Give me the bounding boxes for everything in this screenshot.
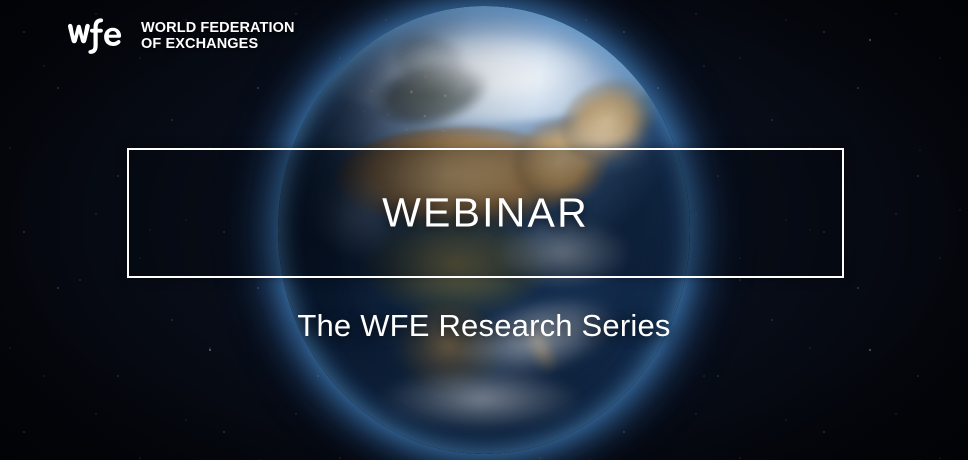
wfe-logo-line-1: WORLD FEDERATION	[141, 20, 295, 37]
wfe-monogram-icon	[66, 16, 132, 56]
webinar-banner: WORLD FEDERATION OF EXCHANGES WEBINAR Th…	[0, 0, 968, 460]
webinar-title-frame: WEBINAR	[127, 148, 844, 278]
wfe-logo[interactable]: WORLD FEDERATION OF EXCHANGES	[66, 16, 295, 56]
page-title: WEBINAR	[129, 193, 842, 234]
wfe-logo-text: WORLD FEDERATION OF EXCHANGES	[141, 20, 295, 53]
page-subtitle: The WFE Research Series	[0, 310, 968, 341]
wfe-logo-line-2: OF EXCHANGES	[141, 36, 295, 53]
